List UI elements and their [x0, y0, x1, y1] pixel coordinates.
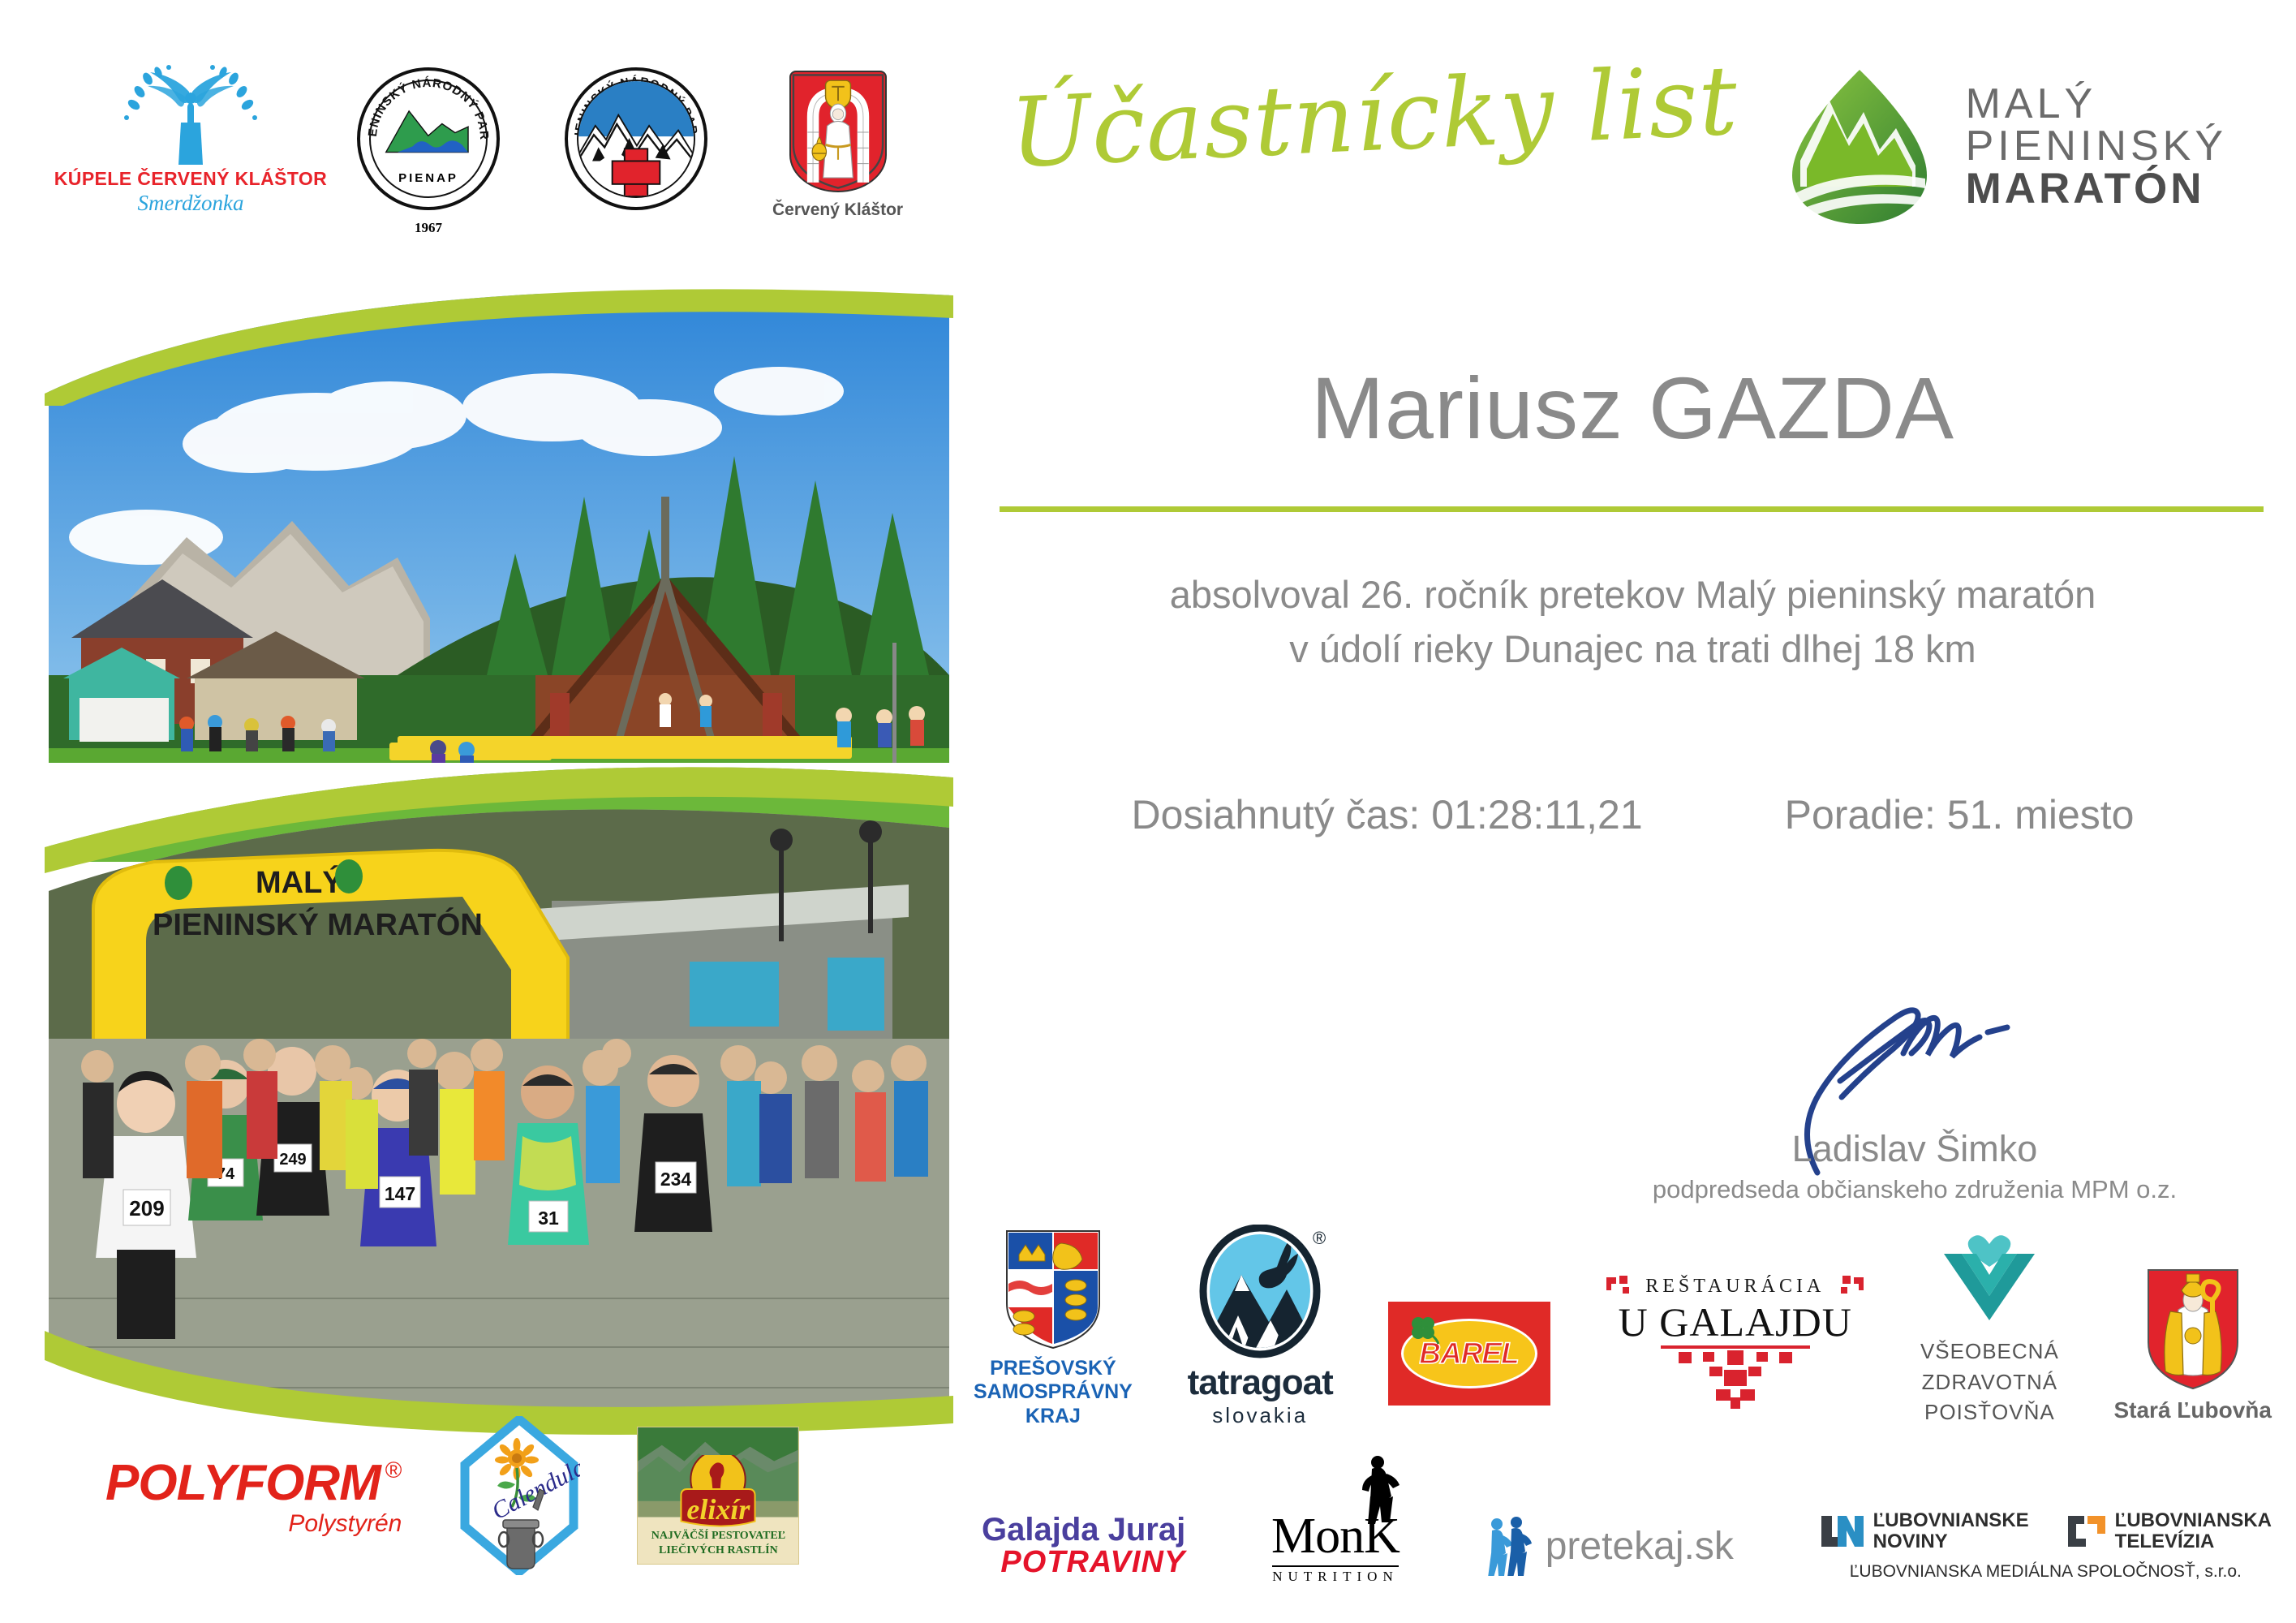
finish-time: Dosiahnutý čas: 01:28:11,21	[1132, 791, 1643, 838]
sponsor-barel: BAREL	[1388, 1302, 1550, 1406]
svg-text:234: 234	[660, 1169, 692, 1190]
ln-text: ĽUBOVNIANSKE NOVINY	[1873, 1510, 2029, 1553]
logo-kupele-cerveny-klastor: KÚPELE ČERVENÝ KLÁŠTOR Smerdžonka	[89, 61, 292, 216]
certificate-title: Účastnícky list	[1008, 44, 1740, 189]
sponsor-calendula: Calendula	[458, 1416, 580, 1575]
calendula-hex-icon: Calendula	[458, 1416, 580, 1575]
brand-line-1: MALÝ	[1966, 83, 2227, 125]
folk-pattern-icon	[1646, 1345, 1825, 1409]
ln-mark-icon	[1820, 1514, 1865, 1548]
placement: Poradie: 51. miesto	[1785, 791, 2135, 838]
sponsor-vseobecna-zdravotna-poistovna: VŠEOBECNÁ ZDRAVOTNÁ POISŤOVŇA	[1920, 1229, 2059, 1428]
ln-line-2: NOVINY	[1873, 1531, 2029, 1552]
tatragoat-mark-icon	[1199, 1225, 1321, 1358]
sponsor-polyform: POLYFORM ® Polystyrén	[105, 1454, 402, 1538]
placement-value: 51. miesto	[1947, 792, 2135, 837]
ln-line-1: ĽUBOVNIANSKE	[1873, 1510, 2029, 1531]
finish-time-value: 01:28:11,21	[1431, 792, 1642, 837]
kck-subname: Smerdžonka	[138, 191, 244, 216]
lms-footer: ĽUBOVNIANSKA MEDIÁLNA SPOLOČNOSŤ, s.r.o.	[1850, 1562, 2242, 1582]
psk-label: PREŠOVSKÝ SAMOSPRÁVNY KRAJ	[974, 1357, 1133, 1429]
signature-block: Ladislav Šimko podpredseda občianskeho z…	[1639, 1006, 2191, 1204]
galajdu-top: REŠTAURÁCIA	[1645, 1276, 1825, 1298]
cerveny-klastor-shield	[789, 71, 887, 192]
svg-text:PIENINSKÝ MARATÓN: PIENINSKÝ MARATÓN	[153, 906, 483, 942]
pienap-emblem: PIENAP	[369, 80, 488, 198]
agro-elixir-word: elixír	[686, 1493, 750, 1526]
certificate-body: absolvoval 26. ročník pretekov Malý pien…	[998, 568, 2268, 676]
sponsor-tatragoat: ® tatragoat slovakia	[1188, 1225, 1333, 1428]
finish-time-label: Dosiahnutý čas:	[1132, 792, 1421, 837]
pienap-word: PIENAP	[371, 171, 486, 185]
green-swoosh-top	[45, 260, 953, 406]
signer-role: podpredseda občianskeho združenia MPM o.…	[1639, 1175, 2191, 1204]
barel-box: BAREL	[1388, 1302, 1550, 1406]
placement-label: Poradie:	[1785, 792, 1936, 837]
brand-wordmark: MALÝ PIENINSKÝ MARATÓN	[1966, 83, 2227, 210]
running-monk-icon	[1352, 1454, 1401, 1524]
tatragoat-sub: slovakia	[1212, 1403, 1308, 1428]
sponsor-row-bottom-left: POLYFORM ® Polystyrén	[105, 1416, 799, 1575]
certificate-page: KÚPELE ČERVENÝ KLÁŠTOR Smerdžonka PIENIN…	[0, 0, 2296, 1623]
sponsor-galajda-juraj-potraviny: Galajda Juraj POTRAVINY	[982, 1512, 1185, 1580]
sponsor-row-secondary: Galajda Juraj POTRAVINY MonK NUTRITION	[982, 1485, 2272, 1607]
results-row: Dosiahnutý čas: 01:28:11,21 Poradie: 51.…	[998, 791, 2268, 838]
vzp-chevron-icon	[1933, 1229, 2046, 1327]
logo-cerveny-klastor: Červený Kláštor	[772, 71, 903, 220]
pienap-seal: PIENINSKÝ NÁRODNÝ PARK PIENAP 1967	[357, 67, 500, 210]
polyform-sub: Polystyrén	[105, 1510, 402, 1538]
logo-horska-sluzba: PIENINSKÝ NÁRODNÝ PARK HORSKÁ SLUŽBA	[565, 67, 707, 210]
svg-text:209: 209	[129, 1196, 164, 1220]
lubovnianske-noviny-logo: ĽUBOVNIANSKE NOVINY	[1820, 1510, 2029, 1553]
agro-bottom-line-1: NAJVÄČŠÍ PESTOVATEĽ	[638, 1529, 798, 1543]
pretekaj-word: pretekaj.sk	[1546, 1524, 1734, 1569]
tatragoat-registered-icon: ®	[1313, 1228, 1326, 1249]
mountain-rescue-emblem	[577, 80, 695, 198]
folk-ornament-left-icon	[1605, 1274, 1634, 1298]
logo-pieninsky-narodny-park: PIENINSKÝ NÁRODNÝ PARK PIENAP 1967	[357, 67, 500, 210]
folk-ornament-right-icon	[1836, 1274, 1865, 1298]
cerveny-klastor-label: Červený Kláštor	[772, 200, 903, 220]
lms-logos-row: ĽUBOVNIANSKE NOVINY ĽUBOVNIANSKA TELEVÍZ…	[1820, 1510, 2272, 1553]
agro-bottom-line-2: LIEČIVÝCH RASTLÍN	[638, 1543, 798, 1558]
sponsor-u-galajdu: REŠTAURÁCIA U GALAJDU	[1605, 1274, 1865, 1409]
svg-text:147: 147	[385, 1183, 415, 1204]
svg-text:31: 31	[538, 1208, 559, 1229]
monk-sub: NUTRITION	[1272, 1565, 1399, 1585]
psk-line-1: PREŠOVSKÝ	[974, 1357, 1133, 1381]
brand-line-2: PIENINSKÝ	[1966, 125, 2227, 167]
body-line-1: absolvoval 26. ročník pretekov Malý pien…	[998, 568, 2268, 622]
stara-lubovna-label: Stará Ľubovňa	[2113, 1397, 2271, 1423]
svg-text:MALÝ: MALÝ	[256, 864, 343, 900]
svg-text:249: 249	[279, 1151, 306, 1169]
tatragoat-word: tatragoat	[1188, 1363, 1333, 1403]
lt-line-2: TELEVÍZIA	[2115, 1531, 2272, 1552]
sponsor-stara-lubovna: Stará Ľubovňa	[2113, 1268, 2271, 1423]
kck-name: KÚPELE ČERVENÝ KLÁŠTOR	[54, 168, 327, 190]
vzp-line-2: ZDRAVOTNÁ	[1920, 1367, 2059, 1398]
sponsor-monk-nutrition: MonK NUTRITION	[1271, 1508, 1400, 1585]
sponsor-row-primary: PREŠOVSKÝ SAMOSPRÁVNY KRAJ	[974, 1242, 2272, 1428]
sponsor-pretekaj-sk: pretekaj.sk	[1486, 1516, 1734, 1576]
recipient-name: Mariusz GAZDA	[998, 357, 2268, 458]
psk-line-3: KRAJ	[974, 1405, 1133, 1429]
galajdu-main: U GALAJDU	[1619, 1298, 1852, 1345]
vzp-line-3: POISŤOVŇA	[1920, 1397, 2059, 1428]
agro-bottom-text: NAJVÄČŠÍ PESTOVATEĽ LIEČIVÝCH RASTLÍN	[638, 1529, 798, 1557]
horska-sluzba-seal: PIENINSKÝ NÁRODNÝ PARK HORSKÁ SLUŽBA	[565, 67, 707, 210]
polyform-word: POLYFORM	[105, 1454, 381, 1512]
brand-line-3: MARATÓN	[1966, 167, 2227, 210]
photo-collage: MALÝ PIENINSKÝ MARATÓN	[49, 260, 949, 1412]
spa-fountain-icon	[97, 61, 284, 166]
lt-text: ĽUBOVNIANSKA TELEVÍZIA	[2115, 1510, 2272, 1553]
signer-name: Ladislav Šimko	[1639, 1128, 2191, 1170]
pienap-year: 1967	[360, 220, 497, 236]
lt-line-1: ĽUBOVNIANSKA	[2115, 1510, 2272, 1531]
lubovnianska-televizia-logo: ĽUBOVNIANSKA TELEVÍZIA	[2066, 1510, 2272, 1553]
galajda-juraj-line-2: POTRAVINY	[1000, 1545, 1185, 1580]
event-brand-logo: MALÝ PIENINSKÝ MARATÓN	[1782, 65, 2227, 227]
psk-shield-icon	[1004, 1229, 1102, 1350]
partner-logo-strip: KÚPELE ČERVENÝ KLÁŠTOR Smerdžonka PIENIN…	[89, 61, 903, 220]
vzp-label: VŠEOBECNÁ ZDRAVOTNÁ POISŤOVŇA	[1920, 1337, 2059, 1428]
vzp-line-1: VŠEOBECNÁ	[1920, 1337, 2059, 1367]
sponsor-agrokarpaty-elixir: AGROKARPATY, s.r.o. PLAVNICA elixír NAJV…	[637, 1427, 799, 1565]
two-runners-icon	[1486, 1516, 1536, 1576]
clover-icon	[1407, 1313, 1439, 1345]
sponsor-presovsky-samospravny-kraj: PREŠOVSKÝ SAMOSPRÁVNY KRAJ	[974, 1229, 1133, 1429]
sponsor-lubovnianska-medialna-spolocnost: ĽUBOVNIANSKE NOVINY ĽUBOVNIANSKA TELEVÍZ…	[1820, 1510, 2272, 1582]
leaf-mountain-icon	[1782, 65, 1937, 227]
title-divider	[1000, 506, 2264, 512]
barel-oval: BAREL	[1401, 1319, 1537, 1388]
polyform-registered-icon: ®	[385, 1457, 402, 1483]
lt-mark-icon	[2066, 1514, 2107, 1548]
stara-lubovna-shield-icon	[2146, 1268, 2240, 1391]
body-line-2: v údolí rieky Dunajec na trati dlhej 18 …	[998, 622, 2268, 677]
psk-line-2: SAMOSPRÁVNY	[974, 1380, 1133, 1405]
galajda-juraj-line-1: Galajda Juraj	[982, 1512, 1185, 1548]
